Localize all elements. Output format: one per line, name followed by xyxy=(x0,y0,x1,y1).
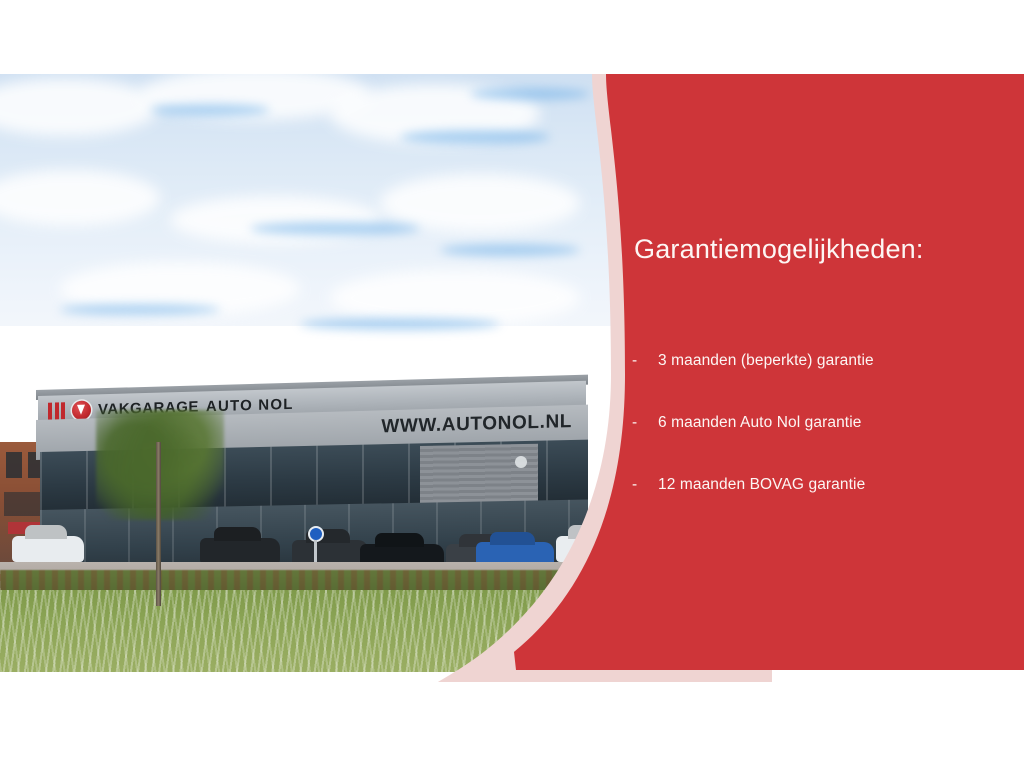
list-item: - 6 maanden Auto Nol garantie xyxy=(632,414,992,476)
bullet-text: 6 maanden Auto Nol garantie xyxy=(658,414,861,432)
bullet-marker: - xyxy=(632,476,658,494)
warranty-options-list: - 3 maanden (beperkte) garantie - 6 maan… xyxy=(632,352,992,538)
bullet-marker: - xyxy=(632,414,658,432)
slide-canvas: VAKGARAGE AUTO NOL WWW.AUTONOL.NL xyxy=(0,74,1024,682)
list-item: - 3 maanden (beperkte) garantie xyxy=(632,352,992,414)
list-item: - 12 maanden BOVAG garantie xyxy=(632,476,992,538)
text-layer: Garantiemogelijkheden: - 3 maanden (bepe… xyxy=(0,74,1024,682)
bullet-marker: - xyxy=(632,352,658,370)
bullet-text: 12 maanden BOVAG garantie xyxy=(658,476,865,494)
bullet-text: 3 maanden (beperkte) garantie xyxy=(658,352,874,370)
page-title: Garantiemogelijkheden: xyxy=(634,234,924,265)
